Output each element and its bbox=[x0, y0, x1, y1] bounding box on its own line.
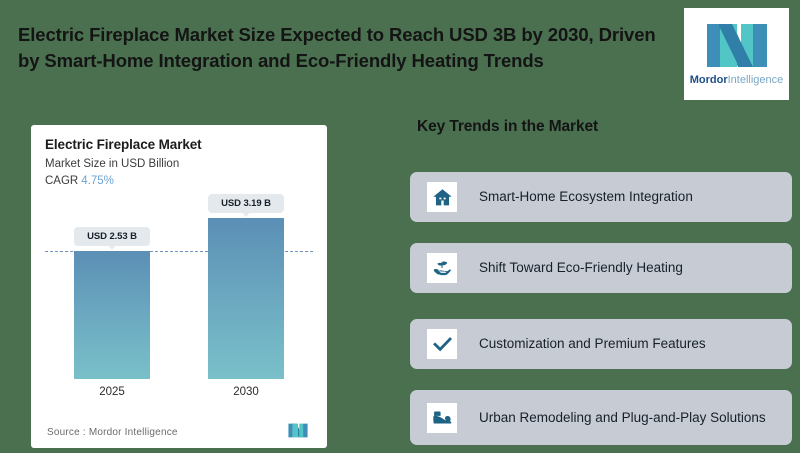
trend-label: Smart-Home Ecosystem Integration bbox=[479, 188, 693, 206]
brand-name-bold: Mordor bbox=[690, 74, 728, 86]
x-axis-tick-2025: 2025 bbox=[45, 386, 179, 398]
chart-title: Electric Fireplace Market bbox=[45, 137, 202, 152]
trends-heading: Key Trends in the Market bbox=[417, 118, 598, 136]
x-axis-tick-2030: 2030 bbox=[179, 386, 313, 398]
hand-plant-icon-glyph bbox=[432, 258, 453, 279]
trend-card-urban-remodeling[interactable]: Urban Remodeling and Plug-and-Play Solut… bbox=[410, 390, 792, 445]
header-banner: Electric Fireplace Market Size Expected … bbox=[0, 0, 800, 108]
trend-label: Urban Remodeling and Plug-and-Play Solut… bbox=[479, 409, 766, 427]
house-icon bbox=[427, 182, 457, 212]
sofa-icon bbox=[427, 403, 457, 433]
page-title: Electric Fireplace Market Size Expected … bbox=[18, 22, 678, 73]
trend-card-eco-friendly[interactable]: Shift Toward Eco-Friendly Heating bbox=[410, 243, 792, 293]
sofa-icon-glyph bbox=[432, 407, 453, 428]
bar-2025[interactable] bbox=[74, 251, 150, 379]
trend-label: Shift Toward Eco-Friendly Heating bbox=[479, 259, 683, 277]
mordor-m-mark-icon bbox=[705, 22, 769, 69]
bar-2030[interactable] bbox=[208, 218, 284, 379]
chart-cagr: CAGR4.75% bbox=[45, 175, 114, 187]
chart-subtitle: Market Size in USD Billion bbox=[45, 158, 179, 170]
chart-plot-area: USD 2.53 B USD 3.19 B 2025 2030 bbox=[45, 197, 313, 419]
chart-source: Source : Mordor Intelligence bbox=[47, 427, 178, 438]
brand-name-light: Intelligence bbox=[728, 74, 784, 86]
brand-logo: MordorIntelligence bbox=[684, 8, 789, 100]
trend-card-customization[interactable]: Customization and Premium Features bbox=[410, 319, 792, 369]
mordor-m-mark-icon-small bbox=[285, 423, 311, 438]
hand-plant-icon bbox=[427, 253, 457, 283]
cagr-value: 4.75% bbox=[81, 175, 114, 187]
bar-value-badge-2025: USD 2.53 B bbox=[74, 227, 150, 246]
trend-card-smart-home[interactable]: Smart-Home Ecosystem Integration bbox=[410, 172, 792, 222]
cagr-label: CAGR bbox=[45, 175, 78, 187]
brand-logo-text: MordorIntelligence bbox=[690, 75, 784, 86]
check-icon-glyph bbox=[432, 334, 453, 355]
check-icon bbox=[427, 329, 457, 359]
house-icon-glyph bbox=[432, 187, 453, 208]
bar-value-badge-2030: USD 3.19 B bbox=[208, 194, 284, 213]
trend-label: Customization and Premium Features bbox=[479, 335, 706, 353]
chart-card: Electric Fireplace Market Market Size in… bbox=[31, 125, 327, 448]
